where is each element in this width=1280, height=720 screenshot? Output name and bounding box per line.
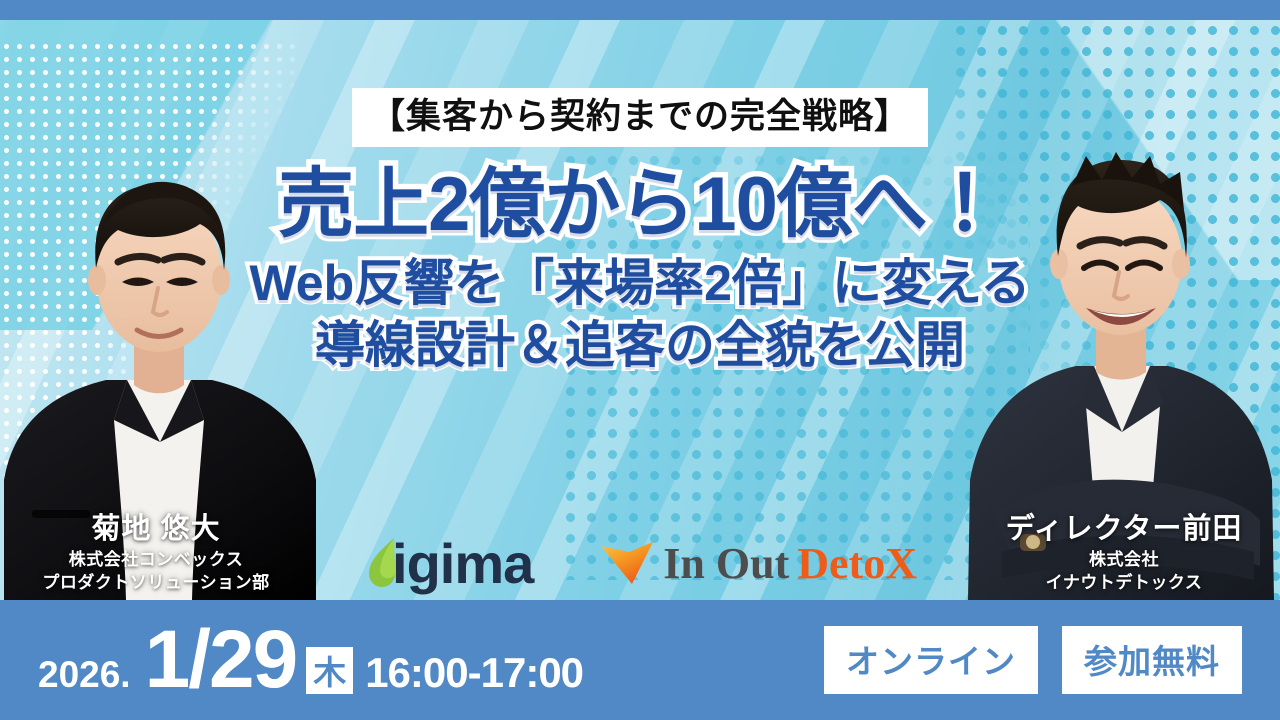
event-year: 2026. [38,654,131,696]
event-datetime: 2026. 1/29 木 16:00-17:00 [38,623,583,697]
logo-digima-text: igima [392,536,533,592]
speaker-photo-right [954,60,1280,600]
kicker-label: 【集客から契約までの完全戦略】 [352,88,928,147]
footer-bar: 2026. 1/29 木 16:00-17:00 オンライン 参加無料 [0,600,1280,720]
badge-free: 参加無料 [1062,626,1242,694]
top-accent-bar [0,0,1280,20]
badge-online: オンライン [824,626,1038,694]
leaf-d-icon [363,536,403,592]
webinar-banner: 【集客から契約までの完全戦略】 売上2億から10億へ！ Web反響を「来場率2倍… [0,0,1280,720]
event-weekday-badge: 木 [306,647,353,694]
speaker-photo-left [0,80,324,600]
event-day: 1/29 [145,623,297,697]
event-badges: オンライン 参加無料 [824,626,1242,694]
logo-digima: igima [363,536,545,592]
event-time: 16:00-17:00 [365,649,583,697]
